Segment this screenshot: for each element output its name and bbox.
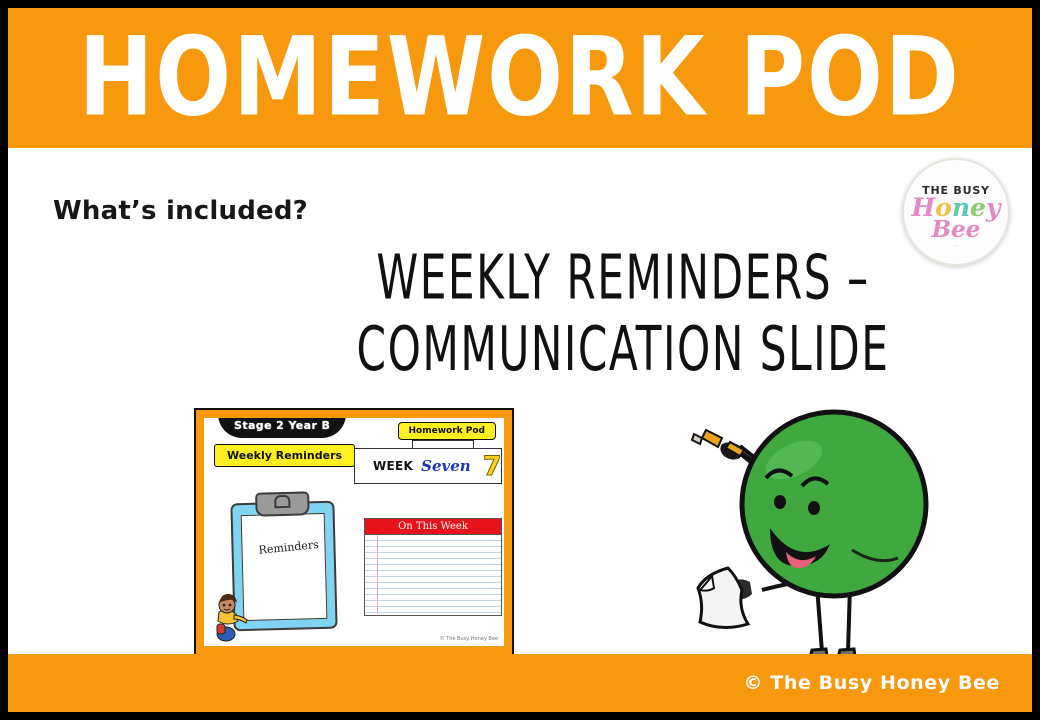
slide-root: Homework Pod THE BUSY Honey Bee .... Wha… [0, 0, 1040, 720]
preview-clipboard-label: Reminders [258, 538, 319, 557]
preview-week-number: 7 [483, 453, 502, 480]
notepad-line [365, 607, 501, 613]
main-heading: WEEKLY REMINDERS – COMMUNICATION SLIDE [223, 244, 1023, 386]
preview-copyright: © The Busy Honey Bee [440, 636, 498, 642]
page-title: Homework Pod [79, 24, 961, 133]
preview-week-banner: WEEK Seven 7 [354, 448, 502, 484]
preview-notepad-margin-line [377, 535, 378, 614]
preview-stage-pill: Stage 2 Year B [218, 418, 346, 438]
preview-homework-pod-badge: Homework Pod [398, 422, 496, 440]
brand-bee-text: Bee [932, 218, 981, 241]
preview-weekly-reminders-badge: Weekly Reminders [214, 444, 355, 467]
student-illustration [214, 584, 254, 642]
preview-clipboard-clip-knob [274, 495, 290, 508]
preview-week-word: WEEK [373, 459, 413, 473]
preview-notepad-header: On This Week [365, 519, 501, 535]
main-heading-line-1: WEEKLY REMINDERS – [223, 244, 1023, 315]
preview-card-inner: Stage 2 Year B Homework Pod Weekly Remin… [204, 418, 504, 646]
whats-included-label: What’s included? [53, 196, 308, 226]
preview-notepad-lines [365, 535, 501, 614]
preview-week-name: Seven [421, 457, 471, 475]
header-band: Homework Pod [8, 8, 1032, 148]
footer-band: © The Busy Honey Bee [8, 654, 1032, 712]
green-pea-character [654, 400, 944, 676]
footer-copyright: © The Busy Honey Bee [743, 672, 1000, 694]
preview-card[interactable]: Stage 2 Year B Homework Pod Weekly Remin… [194, 408, 514, 656]
brand-letter-y: y [986, 193, 1001, 222]
main-heading-line-2: COMMUNICATION SLIDE [223, 315, 1023, 386]
preview-notepad: On This Week [364, 518, 502, 616]
